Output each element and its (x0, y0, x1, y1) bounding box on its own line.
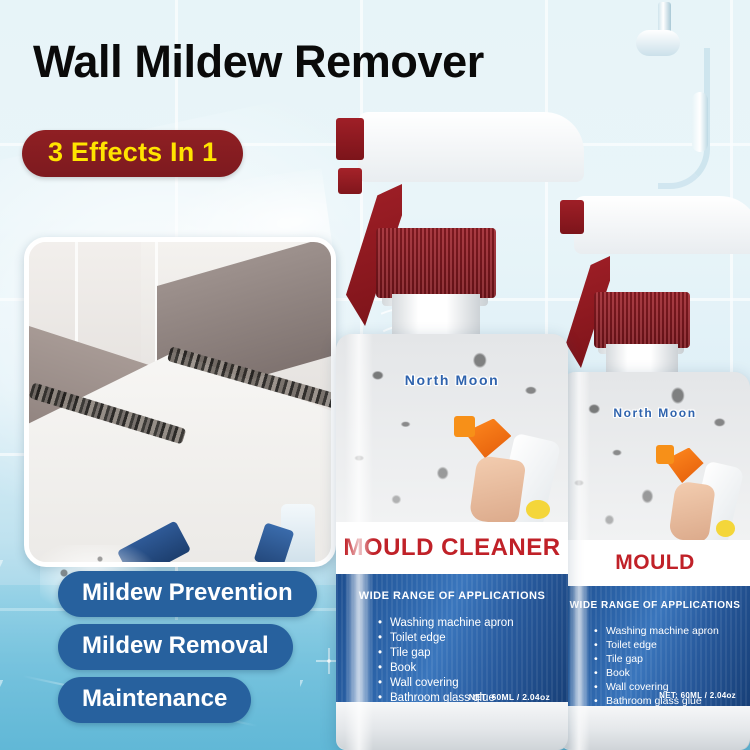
trigger-nozzle-lower (338, 168, 362, 194)
feature-pill-mildew-removal[interactable]: Mildew Removal (58, 624, 293, 670)
feature-pill-maintenance[interactable]: Maintenance (58, 677, 251, 723)
bottle-cap (376, 228, 496, 298)
application-list-item: Washing machine apron (594, 624, 719, 638)
trigger-head (358, 112, 584, 182)
application-list-item: Tile gap (378, 646, 514, 661)
hand-spraying-illustration (651, 439, 738, 540)
applications-panel: WIDE RANGE OF APPLICATIONS Washing machi… (560, 586, 750, 706)
product-name: MOULD CLEANER (560, 540, 750, 586)
product-bottle-primary: North Moon MOULD CLEANER WIDE RANGE OF A… (336, 112, 568, 750)
net-volume: NET: 60ML / 2.04oz (469, 692, 550, 702)
application-list-item: Toilet edge (378, 631, 514, 646)
application-list-item: Book (594, 666, 719, 680)
photo-spray-bottle (281, 504, 315, 566)
shower-fixture-icon (596, 0, 716, 186)
application-list-item: Tile gap (594, 652, 719, 666)
application-list-item: Book (378, 661, 514, 676)
brand-name: North Moon (336, 372, 568, 388)
before-photo-inset (24, 237, 336, 567)
applications-panel: WIDE RANGE OF APPLICATIONS Washing machi… (336, 574, 568, 708)
bottle-cap (594, 292, 690, 348)
trigger-nozzle (336, 118, 364, 160)
application-list-item: Toilet edge (594, 638, 719, 652)
trigger-head (574, 196, 750, 254)
brand-name: North Moon (560, 406, 750, 420)
applications-heading: WIDE RANGE OF APPLICATIONS (560, 600, 750, 611)
product-bottle-secondary: North Moon MOULD CLEANER WIDE RANGE OF A… (560, 196, 750, 750)
product-poster: Wall Mildew Remover 3 Effects In 1 North… (0, 0, 750, 750)
feature-pill-mildew-prevention[interactable]: Mildew Prevention (58, 571, 317, 617)
product-name: MOULD CLEANER (336, 522, 568, 574)
applications-heading: WIDE RANGE OF APPLICATIONS (336, 590, 568, 602)
hand-spraying-illustration (447, 409, 554, 522)
page-title: Wall Mildew Remover (33, 36, 484, 88)
application-list-item: Washing machine apron (378, 616, 514, 631)
application-list-item: Wall covering (378, 676, 514, 691)
effects-badge: 3 Effects In 1 (22, 130, 243, 177)
net-volume: NET: 60ML / 2.04oz (659, 691, 736, 700)
